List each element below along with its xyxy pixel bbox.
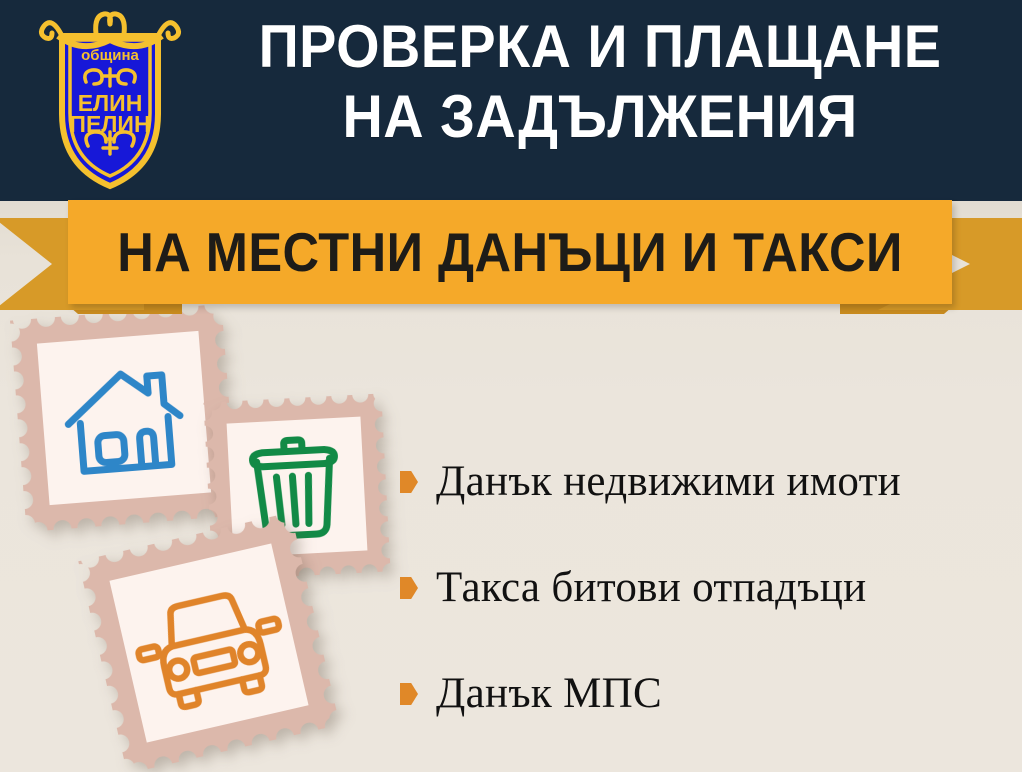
subtitle-ribbon: НА МЕСТНИ ДАНЪЦИ И ТАКСИ — [0, 196, 1022, 312]
page-title: ПРОВЕРКА И ПЛАЩАНЕ НА ЗАДЪЛЖЕНИЯ — [219, 12, 982, 152]
poster-canvas: община ЕЛИН ПЕЛИН ПРОВЕРКА И ПЛАЩАНЕ НА … — [0, 0, 1022, 772]
list-item-label: Данък МПС — [436, 669, 662, 718]
list-item-label: Данък недвижими имоти — [436, 457, 901, 506]
bullet-arrow-icon — [400, 471, 418, 493]
tax-type-list: Данък недвижими имоти Такса битови отпад… — [400, 428, 1012, 746]
bullet-arrow-icon — [400, 577, 418, 599]
bullet-arrow-icon — [400, 683, 418, 705]
crest-text-obshtina: община — [81, 47, 139, 64]
crest-text-pelin: ПЕЛИН — [69, 111, 150, 137]
list-item[interactable]: Такса битови отпадъци — [400, 534, 1012, 640]
coat-of-arms-icon: община ЕЛИН ПЕЛИН — [36, 6, 184, 192]
ribbon-label: НА МЕСТНИ ДАНЪЦИ И ТАКСИ — [103, 200, 916, 304]
list-item[interactable]: Данък МПС — [400, 640, 1012, 746]
ribbon-band: НА МЕСТНИ ДАНЪЦИ И ТАКСИ — [68, 200, 952, 304]
list-item[interactable]: Данък недвижими имоти — [400, 428, 1012, 534]
title-line-1: ПРОВЕРКА И ПЛАЩАНЕ — [259, 13, 942, 80]
title-line-2: НА ЗАДЪЛЖЕНИЯ — [219, 82, 982, 152]
list-item-label: Такса битови отпадъци — [436, 563, 866, 612]
